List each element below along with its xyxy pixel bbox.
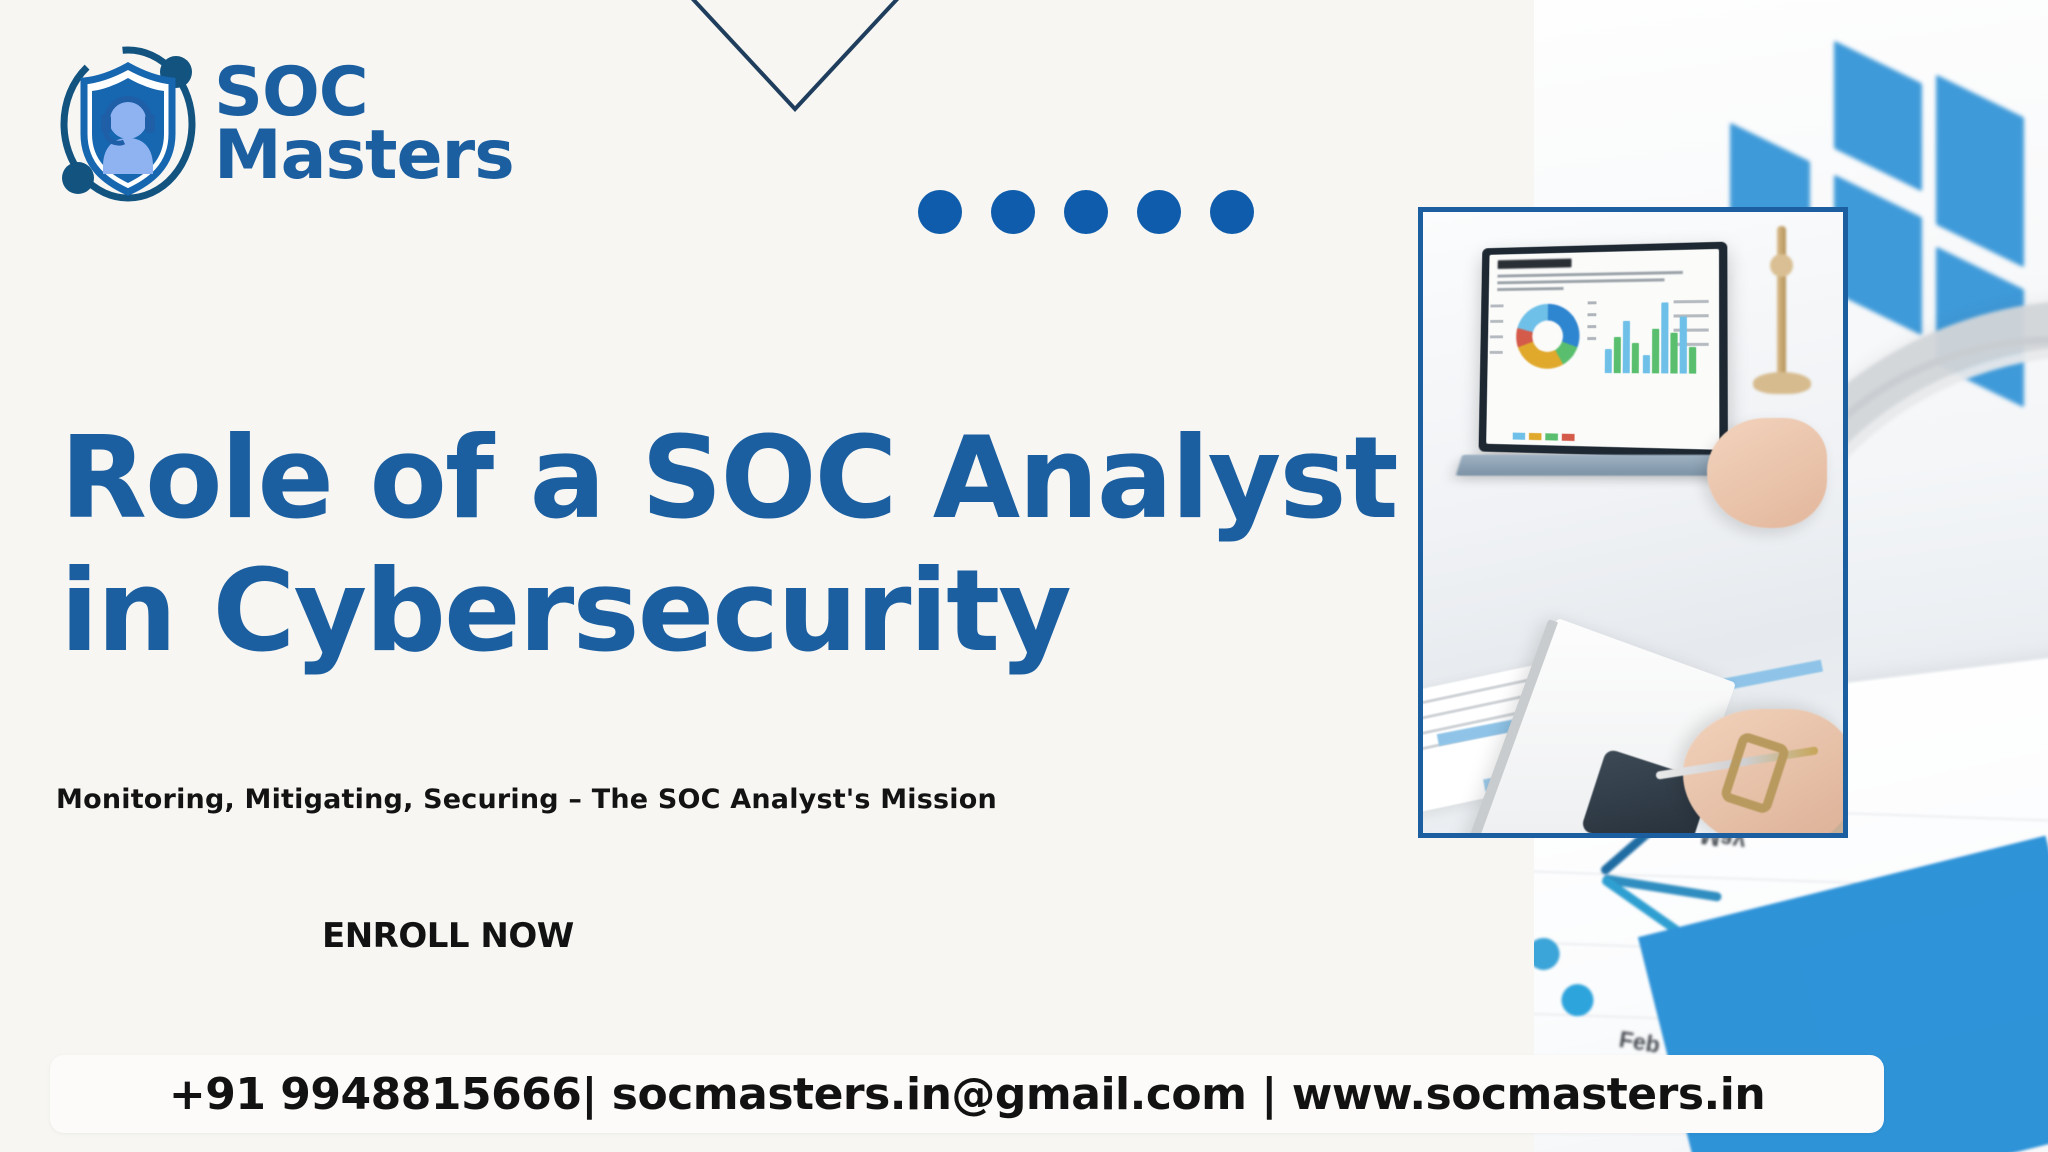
dot-5 <box>1210 190 1254 234</box>
laptop-screen <box>1486 249 1719 450</box>
donut-chart-thumb <box>1516 303 1580 368</box>
dot-4 <box>1137 190 1181 234</box>
dot-3 <box>1064 190 1108 234</box>
dot-row-decor <box>918 190 1254 234</box>
chevron-down-icon <box>660 0 930 127</box>
brand-name-line2: Masters <box>214 116 514 195</box>
tagline: Monitoring, Mitigating, Securing – The S… <box>56 784 997 815</box>
brand-logo[interactable]: SOC Masters <box>48 42 514 207</box>
brand-wordmark: SOC Masters <box>214 62 514 187</box>
headline-line-2: in Cybersecurity <box>60 545 1397 678</box>
framed-photo <box>1418 207 1848 838</box>
laptop-device <box>1479 242 1728 459</box>
dot-1 <box>918 190 962 234</box>
balance-scale-decor <box>1753 226 1807 426</box>
promo-banner: Jan Feb Mar Apr May Sep <box>0 0 2048 1152</box>
enroll-now-button[interactable]: ENROLL NOW <box>322 916 574 956</box>
bar-chart-thumb <box>1605 294 1699 374</box>
shield-headset-agent-icon <box>48 42 208 207</box>
contact-text[interactable]: +91 9948815666| socmasters.in@gmail.com … <box>169 1069 1765 1120</box>
contact-bar: +91 9948815666| socmasters.in@gmail.com … <box>50 1055 1884 1133</box>
dot-2 <box>991 190 1035 234</box>
page-title: Role of a SOC Analyst in Cybersecurity <box>60 412 1397 679</box>
hand-pointing <box>1707 418 1827 528</box>
framed-photo-content <box>1423 212 1843 833</box>
headline-line-1: Role of a SOC Analyst <box>60 412 1397 545</box>
